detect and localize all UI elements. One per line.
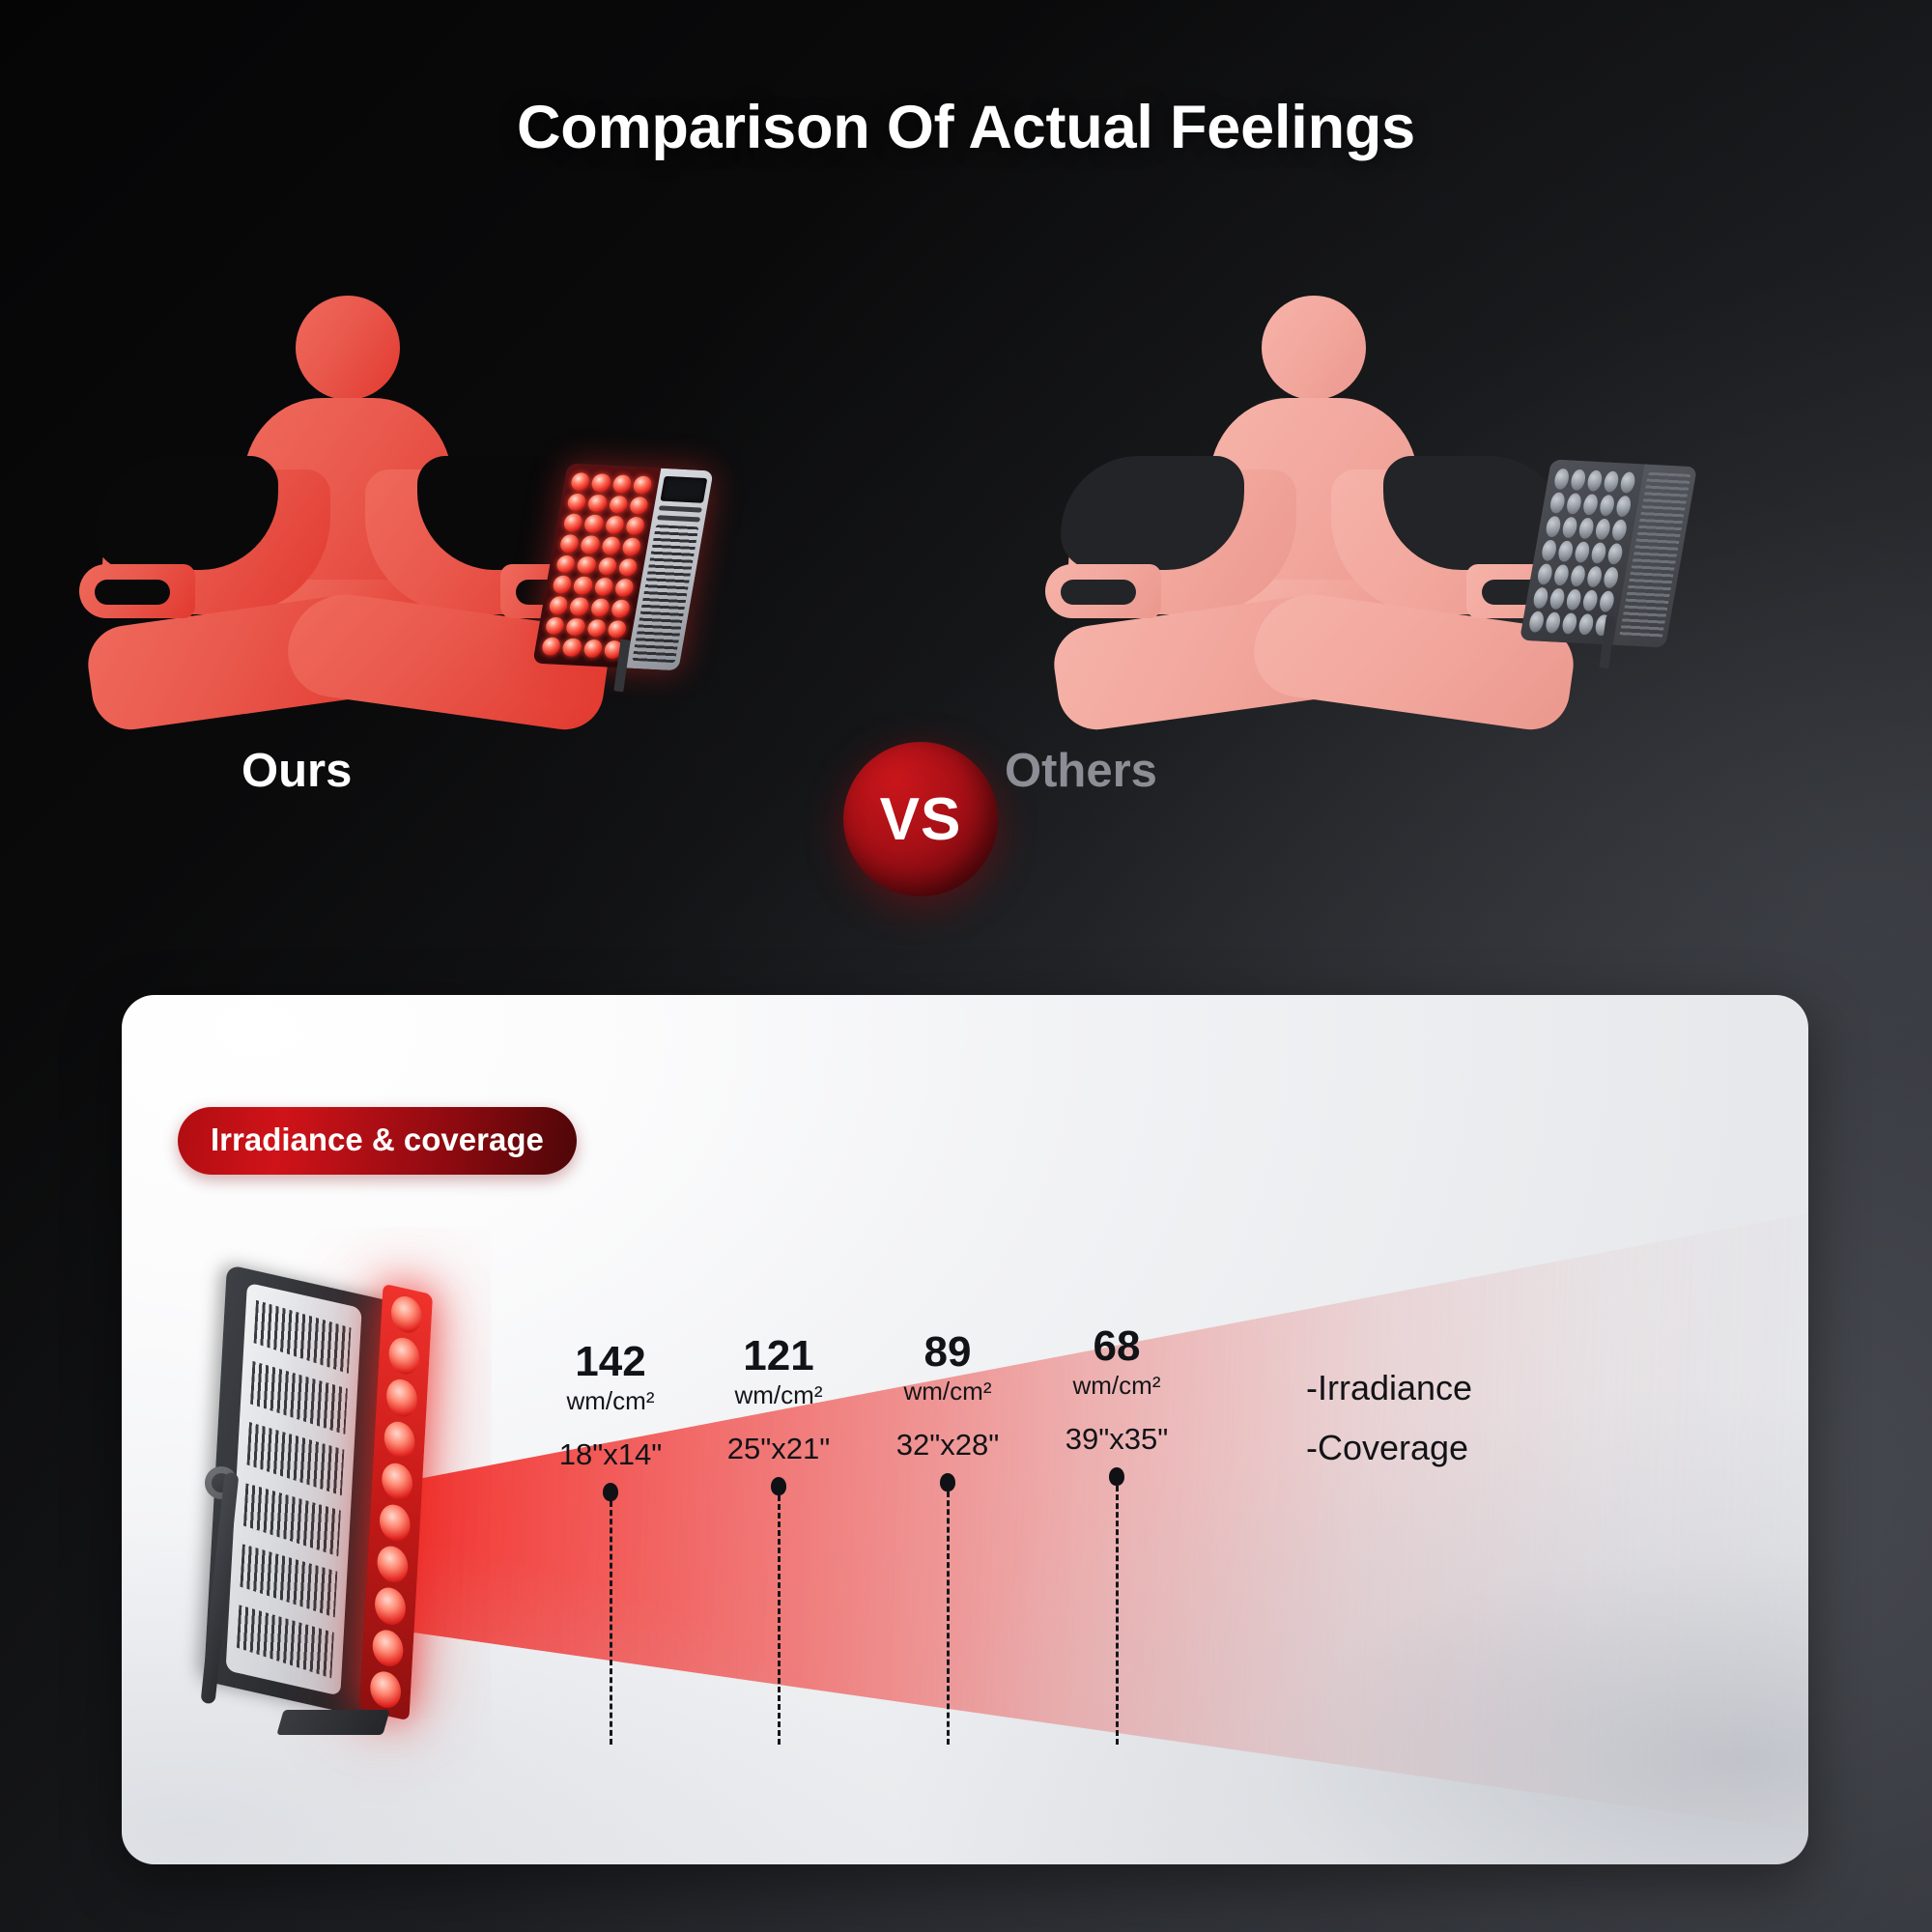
legend-coverage: -Coverage [1306, 1428, 1468, 1468]
connector-line [1116, 1486, 1119, 1745]
connector-line [947, 1492, 950, 1745]
red-light-therapy-panel-unlit-icon [1536, 462, 1681, 645]
data-point-marker [603, 1483, 618, 1501]
irradiance-card: Irradiance & coverage [122, 995, 1808, 1864]
figure-hand-left [1045, 564, 1161, 618]
coverage-value: 39"x35" [1020, 1422, 1213, 1457]
measurement-column: 68 wm/cm² 39"x35" [1020, 1325, 1213, 1745]
comparison-side-others [1082, 290, 1816, 831]
data-point-marker [771, 1477, 786, 1495]
control-button [659, 505, 702, 512]
connector-line [778, 1495, 781, 1745]
measurement-column: 121 wm/cm² 25"x21" [682, 1335, 875, 1745]
control-button [657, 515, 700, 522]
legend-irradiance: -Irradiance [1306, 1368, 1472, 1408]
figure-head [1262, 296, 1366, 400]
irradiance-unit: wm/cm² [514, 1386, 707, 1416]
meditating-person-icon [1063, 290, 1565, 705]
coverage-value: 25"x21" [682, 1432, 875, 1466]
measurement-column: 89 wm/cm² 32"x28" [851, 1331, 1044, 1745]
meditating-person-icon [97, 290, 599, 705]
coverage-value: 32"x28" [851, 1428, 1044, 1463]
data-point-marker [1109, 1467, 1124, 1486]
others-figure [1063, 290, 1565, 705]
irradiance-value: 142 [514, 1341, 707, 1384]
page-title: Comparison Of Actual Feelings [0, 93, 1932, 162]
measurement-column: 142 wm/cm² 18"x14" [514, 1341, 707, 1745]
figure-hand-left [79, 564, 195, 618]
irradiance-value: 121 [682, 1335, 875, 1378]
page-background: Comparison Of Actual Feelings [0, 0, 1932, 1932]
display-screen [660, 476, 707, 503]
coverage-value: 18"x14" [514, 1437, 707, 1472]
measurement-columns: 142 wm/cm² 18"x14" 121 wm/cm² 25"x21" 89… [122, 995, 1808, 1864]
irradiance-unit: wm/cm² [851, 1377, 1044, 1406]
caption-ours: Ours [241, 744, 352, 798]
irradiance-value: 89 [851, 1331, 1044, 1375]
ours-figure [97, 290, 599, 705]
caption-others: Others [1005, 744, 1157, 798]
data-point-marker [940, 1473, 955, 1492]
red-light-therapy-panel-lit-icon [551, 466, 696, 668]
irradiance-value: 68 [1020, 1325, 1213, 1369]
comparison-section: VS Ours Others [0, 290, 1932, 908]
connector-line [610, 1501, 612, 1745]
figure-head [296, 296, 400, 400]
irradiance-unit: wm/cm² [682, 1380, 875, 1410]
comparison-side-ours [97, 290, 792, 831]
irradiance-unit: wm/cm² [1020, 1371, 1213, 1401]
vs-badge: VS [843, 742, 998, 896]
